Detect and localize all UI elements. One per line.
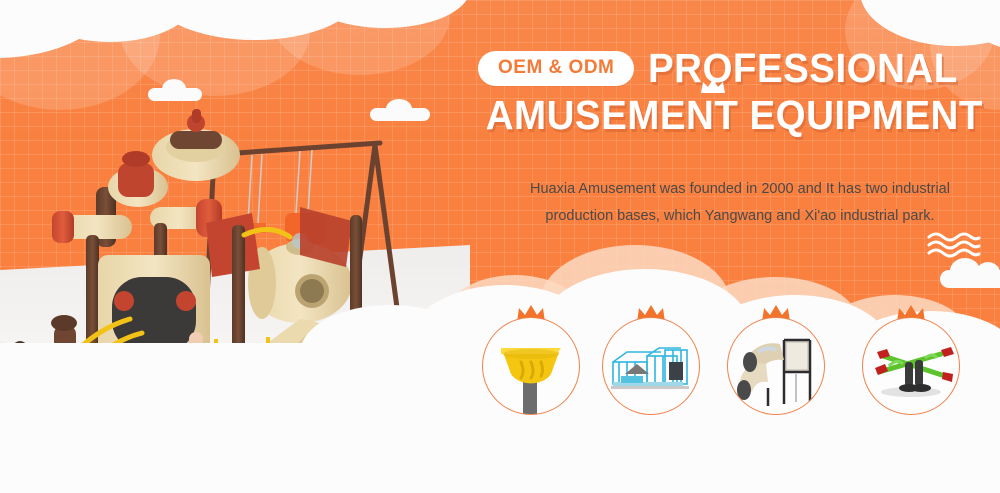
playground-svg	[0, 95, 470, 435]
description-line-2: production bases, which Yangwang and Xi'…	[500, 203, 980, 230]
headline-row-2: AMUSEMENT EQUIPMENT	[478, 95, 983, 135]
oem-odm-badge: OEM & ODM	[478, 51, 634, 86]
thumbnail-ring	[862, 317, 960, 415]
thumbnail-blue-modular-playground[interactable]	[602, 317, 700, 415]
thumbnail-beige-tube-slide-tower[interactable]	[727, 317, 825, 415]
description-text: Huaxia Amusement was founded in 2000 and…	[500, 176, 980, 230]
thumbnail-yellow-bucket-play-unit[interactable]	[482, 317, 580, 415]
waves-icon	[926, 230, 982, 260]
description-line-1: Huaxia Amusement was founded in 2000 and…	[500, 176, 980, 203]
promo-banner: OEM & ODM PROFESSIONAL AMUSEMENT EQUIPME…	[0, 0, 1000, 493]
blue-playground-icon	[603, 318, 699, 414]
thumbnail-ring	[602, 317, 700, 415]
thumbnail-green-seesaw-set[interactable]	[862, 317, 960, 415]
seesaw-icon	[863, 318, 959, 414]
small-cloud	[940, 270, 1000, 288]
dome-module	[152, 109, 240, 181]
headline-line-2: AMUSEMENT EQUIPMENT	[486, 95, 983, 135]
thumbnail-ring	[482, 317, 580, 415]
headline-block: OEM & ODM PROFESSIONAL AMUSEMENT EQUIPME…	[478, 48, 983, 135]
hero-playground-illustration	[0, 95, 470, 435]
stairs	[160, 355, 210, 403]
headline-row-1: OEM & ODM PROFESSIONAL	[478, 48, 983, 88]
tube-slide-tower-icon	[728, 318, 824, 414]
product-thumbnail-row	[470, 305, 990, 435]
headline-line-1: PROFESSIONAL	[648, 48, 958, 88]
thumbnail-ring	[727, 317, 825, 415]
yellow-bucket-icon	[483, 318, 579, 414]
